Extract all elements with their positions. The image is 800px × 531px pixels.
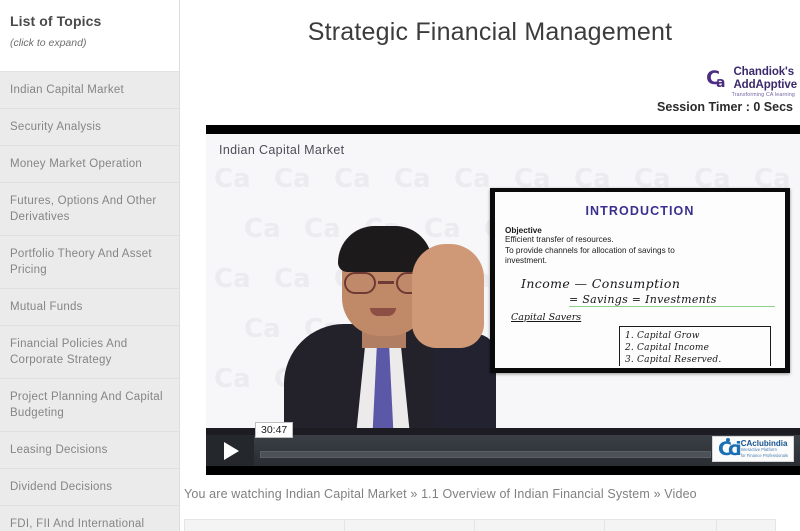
slide-objective-line-1: Efficient transfer of resources. <box>505 235 775 246</box>
watermark-glyph: Ca <box>574 168 611 190</box>
watermark-glyph: Ca <box>394 168 431 190</box>
table-cell[interactable] <box>604 520 716 531</box>
caclubindia-logo: Cci CAclubindia Interactive Platform for… <box>712 436 794 462</box>
video-topic-label: Indian Capital Market <box>219 143 344 157</box>
player-top-letterbox <box>206 125 800 134</box>
page-root: List of Topics (click to expand) Indian … <box>0 0 800 531</box>
caclubindia-name: CAclubindia <box>741 440 788 447</box>
slide-handwritten-equation: Income — Consumption <box>521 276 775 291</box>
brand-tagline: Transforming CA learning <box>557 92 797 98</box>
table-row <box>185 520 776 531</box>
slide-handwritten-list-item: 3. Capital Reserved. <box>625 354 765 366</box>
slide-handwritten-capital-savers: Capital Savers <box>511 312 581 323</box>
table-cell[interactable] <box>344 520 474 531</box>
brand-line-2: AddApptive <box>733 79 797 92</box>
watermark-glyph: Ca <box>454 168 491 190</box>
watermark-glyph: Ca <box>514 168 551 190</box>
glasses-bridge <box>378 281 394 284</box>
table-cell[interactable] <box>185 520 345 531</box>
play-icon <box>224 442 239 460</box>
sidebar-item-money-market-operation[interactable]: Money Market Operation <box>0 146 179 183</box>
brand-block: Ca Chandiok's AddApptive Transforming CA… <box>557 66 797 114</box>
sidebar-item-mutual-funds[interactable]: Mutual Funds <box>0 289 179 326</box>
table-cell[interactable] <box>716 520 775 531</box>
sidebar-item-fdi-fii-international-finance[interactable]: FDI, FII And International Finance <box>0 506 179 531</box>
player-controls[interactable]: 30:47 HD <box>206 435 800 466</box>
slide-objective-line-2: To provide channels for allocation of sa… <box>505 246 775 257</box>
slide-objective-line-3: investment. <box>505 256 775 267</box>
footer-table <box>184 519 776 531</box>
now-watching-breadcrumb: You are watching Indian Capital Market »… <box>184 487 697 501</box>
watermark-glyph: Ca <box>754 168 791 190</box>
brand-mark-sub: a <box>716 75 725 91</box>
brand-row: Ca Chandiok's AddApptive <box>557 66 797 91</box>
presenter-figure <box>284 189 489 444</box>
glasses-left-lens <box>344 272 376 294</box>
session-timer: Session Timer : 0 Secs <box>557 100 797 114</box>
watermark-glyph: Ca <box>694 168 731 190</box>
time-tooltip: 30:47 <box>255 422 293 438</box>
video-player[interactable]: Ca Ca Ca Ca Ca Ca Ca Ca Ca Ca Ca Ca Ca C… <box>206 125 800 475</box>
sidebar-header: List of Topics (click to expand) <box>0 0 179 72</box>
presentation-slide-frame: INTRODUCTION Objective Efficient transfe… <box>490 188 790 373</box>
page-title: Strategic Financial Management <box>180 0 800 47</box>
watermark-glyph: Ca <box>334 168 371 190</box>
watermark-glyph: Ca <box>214 368 251 390</box>
sidebar-title: List of Topics <box>10 12 169 30</box>
slide-handwritten-equation-2: = Savings = Investments <box>569 293 775 307</box>
main-content: Strategic Financial Management Ca Chandi… <box>180 0 800 531</box>
slide-handwritten-list: 1. Capital Grow 2. Capital Income 3. Cap… <box>619 326 771 366</box>
progress-bar[interactable]: 30:47 <box>254 435 717 466</box>
sidebar-item-portfolio-theory-asset-pricing[interactable]: Portfolio Theory And Asset Pricing <box>0 236 179 289</box>
topic-list: Indian Capital Market Security Analysis … <box>0 72 179 531</box>
watermark-glyph: Ca <box>244 218 281 240</box>
sidebar-item-financial-policies-corporate-strategy[interactable]: Financial Policies And Corporate Strateg… <box>0 326 179 379</box>
watermark-glyph: Ca <box>274 168 311 190</box>
sidebar-item-security-analysis[interactable]: Security Analysis <box>0 109 179 146</box>
watermark-glyph: Ca <box>214 268 251 290</box>
sidebar-item-indian-capital-market[interactable]: Indian Capital Market <box>0 72 179 109</box>
slide-title: INTRODUCTION <box>505 204 775 218</box>
presenter-mouth <box>370 308 396 316</box>
brand-line-1: Chandiok's <box>733 66 797 79</box>
slide-handwritten-list-item: 1. Capital Grow <box>625 330 765 342</box>
presenter-hand <box>412 244 484 348</box>
presentation-slide: INTRODUCTION Objective Efficient transfe… <box>495 192 785 368</box>
sidebar-item-project-planning-capital-budgeting[interactable]: Project Planning And Capital Budgeting <box>0 379 179 432</box>
sidebar-subtitle: (click to expand) <box>10 37 169 49</box>
player-bottom-letterbox <box>206 466 800 475</box>
chandiok-logo-icon: Ca <box>706 71 729 88</box>
caclubindia-mark-icon: Cci <box>718 441 738 457</box>
watermark-glyph: Ca <box>244 318 281 340</box>
progress-track[interactable] <box>260 451 711 458</box>
play-button[interactable] <box>206 435 254 466</box>
brand-words: Chandiok's AddApptive <box>733 66 797 91</box>
sidebar-item-leasing-decisions[interactable]: Leasing Decisions <box>0 432 179 469</box>
sidebar: List of Topics (click to expand) Indian … <box>0 0 180 531</box>
watermark-glyph: Ca <box>634 168 671 190</box>
table-cell[interactable] <box>474 520 604 531</box>
sidebar-item-futures-options-derivatives[interactable]: Futures, Options And Other Derivatives <box>0 183 179 236</box>
watermark-glyph: Ca <box>214 168 251 190</box>
slide-handwritten-list-item: 2. Capital Income <box>625 342 765 354</box>
sidebar-item-dividend-decisions[interactable]: Dividend Decisions <box>0 469 179 506</box>
video-stage[interactable]: Ca Ca Ca Ca Ca Ca Ca Ca Ca Ca Ca Ca Ca C… <box>206 134 800 444</box>
caclubindia-tagline-2: for Finance Professionals <box>741 453 788 458</box>
slide-objective-label: Objective <box>505 226 775 235</box>
caclubindia-text: CAclubindia Interactive Platform for Fin… <box>741 440 788 458</box>
